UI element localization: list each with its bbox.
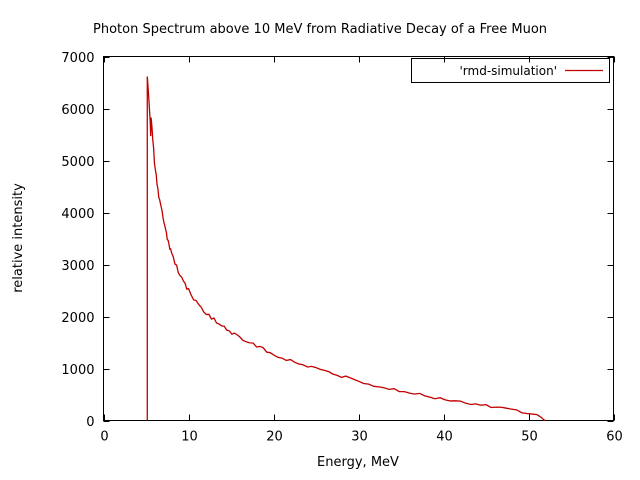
- y-tick-label: 3000: [61, 259, 94, 274]
- y-tick-label: 7000: [61, 51, 94, 66]
- x-tick-label: 10: [181, 430, 198, 445]
- y-axis-label: relative intensity: [11, 183, 26, 293]
- x-axis-label: Energy, MeV: [317, 455, 399, 470]
- y-tick-label: 6000: [61, 103, 94, 118]
- y-tick-label: 4000: [61, 207, 94, 222]
- y-tick-label: 1000: [61, 363, 94, 378]
- x-tick-label: 30: [351, 430, 368, 445]
- x-tick-label: 50: [521, 430, 538, 445]
- chart-title: Photon Spectrum above 10 MeV from Radiat…: [93, 22, 547, 37]
- y-tick-label: 0: [86, 415, 94, 430]
- legend-entry-label: 'rmd-simulation': [459, 64, 557, 78]
- photon-spectrum-chart: Photon Spectrum above 10 MeV from Radiat…: [0, 0, 640, 480]
- x-tick-label: 0: [100, 430, 108, 445]
- chart-canvas: Photon Spectrum above 10 MeV from Radiat…: [0, 0, 640, 480]
- x-tick-label: 60: [606, 430, 623, 445]
- x-tick-label: 40: [436, 430, 453, 445]
- x-tick-label: 20: [266, 430, 283, 445]
- y-tick-label: 2000: [61, 311, 94, 326]
- y-tick-label: 5000: [61, 155, 94, 170]
